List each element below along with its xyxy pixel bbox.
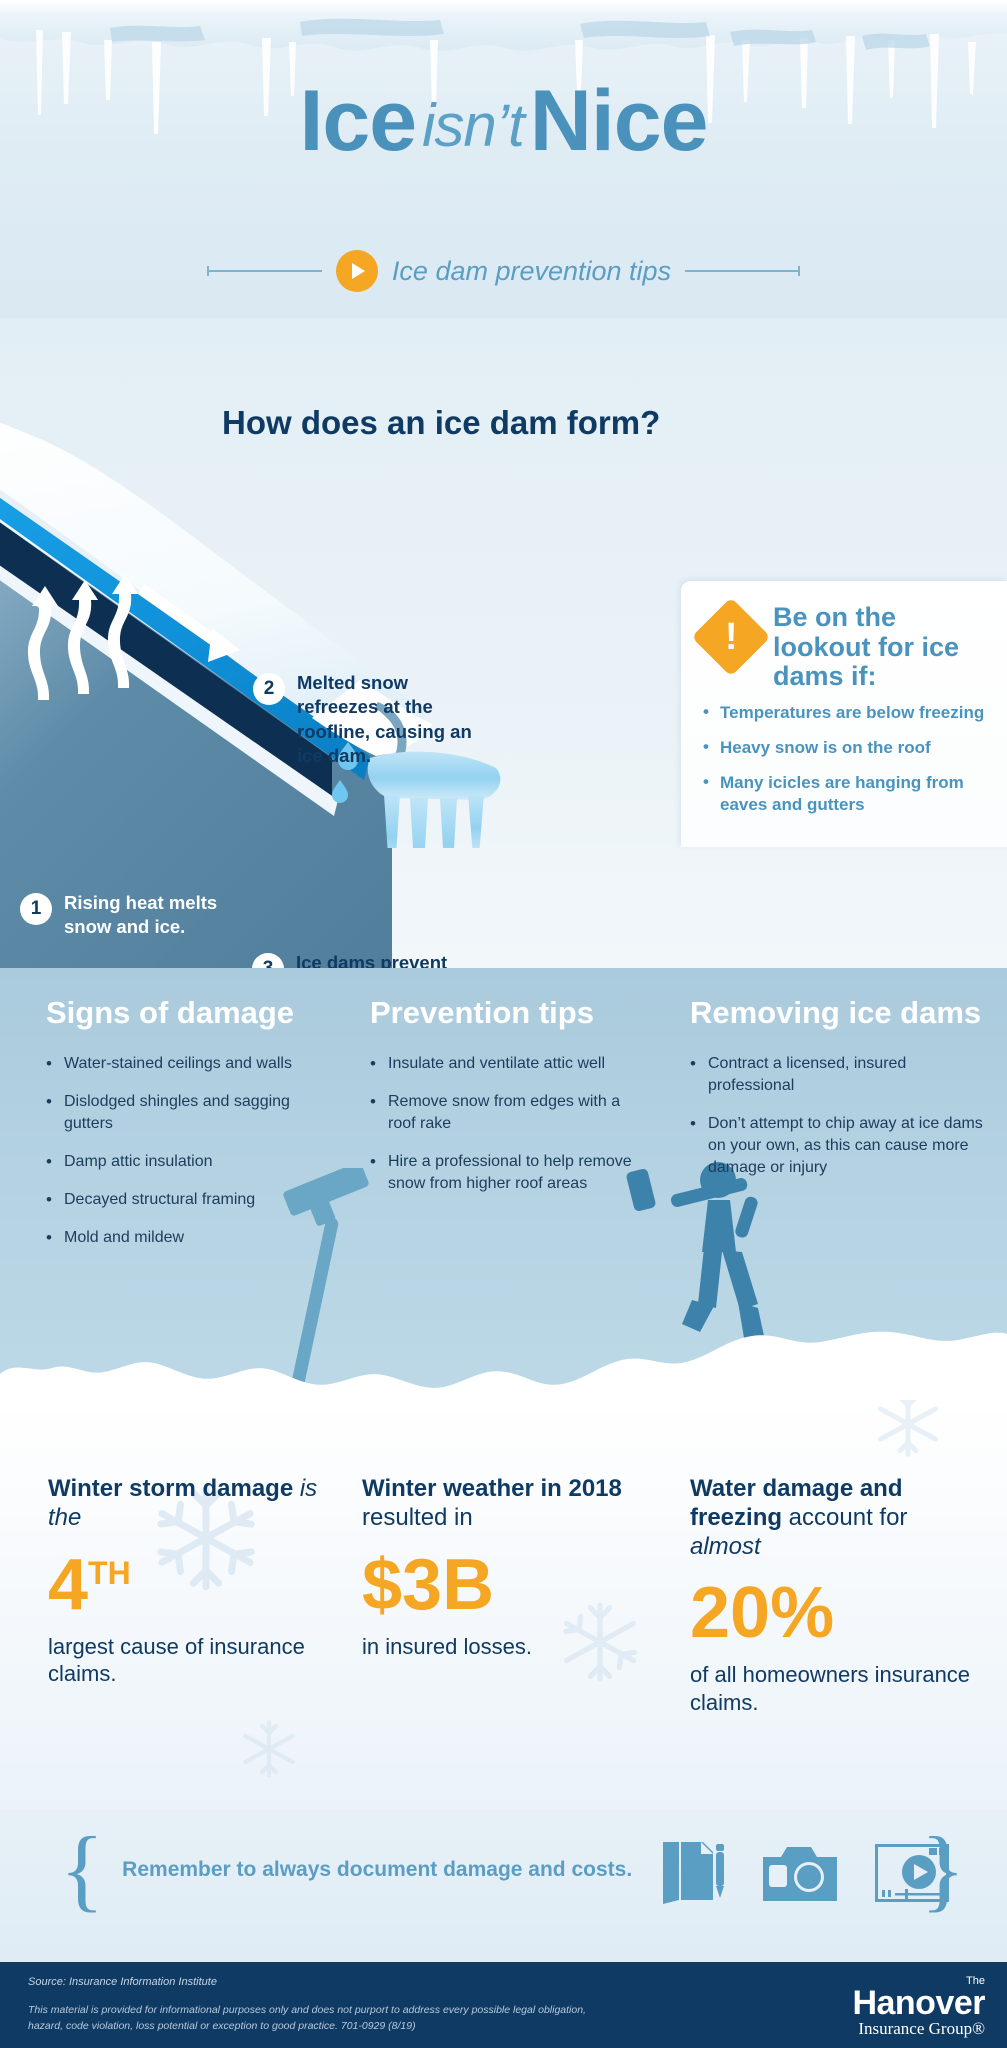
logo-subtitle: Insurance Group® (852, 2020, 985, 2039)
column-heading: Signs of damage (46, 996, 326, 1031)
close-brace-icon: } (921, 1828, 965, 1911)
title-part-1: Ice (300, 73, 417, 169)
diagram-heading: How does an ice dam form? (222, 404, 660, 442)
snowflake-icon (238, 1718, 300, 1780)
lookout-card: ! Be on the lookout for ice dams if: Tem… (681, 581, 1007, 847)
stat-number: 4 (48, 1545, 88, 1625)
stat-value: 4TH (48, 1549, 318, 1621)
remember-band: { Remember to always document damage and… (0, 1810, 1007, 1970)
column-list: Water-stained ceilings and walls Dislodg… (46, 1053, 326, 1249)
stat-heading-rest: resulted in (362, 1504, 473, 1531)
document-pen-icon (661, 1840, 725, 1906)
list-item: Decayed structural framing (46, 1189, 326, 1211)
hero-section: Iceisn’tNice Ice dam prevention tips (0, 0, 1007, 345)
column-list: Insulate and ventilate attic well Remove… (370, 1053, 640, 1195)
remember-inner: { Remember to always document damage and… (60, 1828, 632, 1911)
step-text: Ice dams prevent water from draining and… (296, 951, 482, 968)
stat-value: $3B (362, 1549, 642, 1621)
exclamation-glyph: ! (725, 618, 738, 656)
column-prevention-tips: Prevention tips Insulate and ventilate a… (370, 996, 640, 1211)
list-item: Don’t attempt to chip away at ice dams o… (690, 1113, 990, 1179)
list-item: Many icicles are hanging from eaves and … (703, 772, 987, 816)
stat-number: $3B (362, 1545, 494, 1625)
footer: Source: Insurance Information Institute … (0, 1962, 1007, 2048)
rule-right (685, 270, 800, 272)
list-item: Water-stained ceilings and walls (46, 1053, 326, 1075)
column-signs-of-damage: Signs of damage Water-stained ceilings a… (46, 996, 326, 1265)
subtitle-row: Ice dam prevention tips (0, 250, 1007, 292)
stat-heading-bold: Winter weather in 2018 (362, 1475, 622, 1502)
stat-heading-extra: almost (690, 1533, 761, 1560)
camera-icon (763, 1845, 837, 1901)
stat-ordinal-suffix: TH (88, 1555, 131, 1591)
title-part-2: Nice (530, 73, 708, 169)
stat-winter-weather-2018: Winter weather in 2018 resulted in $3B i… (362, 1475, 642, 1660)
stat-caption: in insured losses. (362, 1633, 642, 1661)
stat-winter-storm-damage: Winter storm damage is the 4TH largest c… (48, 1475, 318, 1688)
source-text: Source: Insurance Information Institute (28, 1976, 217, 1988)
page-title: Iceisn’tNice (0, 78, 1007, 164)
diagram-step-3: 3 Ice dams prevent water from draining a… (252, 951, 482, 968)
list-item: Temperatures are below freezing (703, 702, 987, 724)
hanover-logo: The Hanover Insurance Group® (852, 1976, 985, 2039)
lookout-list: Temperatures are below freezing Heavy sn… (703, 702, 987, 816)
lookout-header: ! Be on the lookout for ice dams if: (703, 603, 987, 692)
column-list: Contract a licensed, insured professiona… (690, 1053, 990, 1179)
title-isnt: isn’t (416, 92, 530, 159)
list-item: Mold and mildew (46, 1227, 326, 1249)
list-item: Insulate and ventilate attic well (370, 1053, 640, 1075)
step-number: 3 (252, 953, 284, 968)
rule-left (207, 270, 322, 272)
tips-columns-section: Signs of damage Water-stained ceilings a… (0, 968, 1007, 1428)
play-icon[interactable] (336, 250, 378, 292)
legal-disclaimer: This material is provided for informatio… (28, 2002, 588, 2035)
play-triangle (352, 263, 365, 279)
stat-heading-rest: account for (782, 1504, 907, 1531)
step-text: Melted snow refreezes at the roofline, c… (297, 671, 483, 769)
list-item: Remove snow from edges with a roof rake (370, 1091, 640, 1135)
step-text: Rising heat melts snow and ice. (64, 891, 230, 940)
step-number: 1 (20, 893, 52, 925)
logo-name: Hanover (852, 1987, 985, 2019)
list-item: Heavy snow is on the roof (703, 737, 987, 759)
open-brace-icon: { (60, 1828, 104, 1911)
infographic-page: Iceisn’tNice Ice dam prevention tips (0, 0, 1007, 2048)
snowflake-icon (872, 1400, 944, 1460)
column-heading: Removing ice dams (690, 996, 990, 1031)
step-number: 2 (253, 673, 285, 705)
list-item: Dislodged shingles and sagging gutters (46, 1091, 326, 1135)
stat-heading: Water damage and freezing account foralm… (690, 1475, 990, 1561)
stat-number: 20% (690, 1573, 834, 1653)
column-heading: Prevention tips (370, 996, 640, 1031)
diagram-step-2: 2 Melted snow refreezes at the roofline,… (253, 671, 483, 769)
stat-caption: of all homeowners insurance claims. (690, 1661, 990, 1716)
remember-text: Remember to always document damage and c… (122, 1856, 632, 1883)
diagram-step-1: 1 Rising heat melts snow and ice. (20, 891, 230, 940)
list-item: Damp attic insulation (46, 1151, 326, 1173)
stat-water-damage-freezing: Water damage and freezing account foralm… (690, 1475, 990, 1716)
stat-heading: Winter weather in 2018 resulted in (362, 1475, 642, 1533)
page-subtitle: Ice dam prevention tips (392, 256, 671, 287)
warning-diamond-icon: ! (691, 597, 770, 676)
stat-caption: largest cause of insurance claims. (48, 1633, 318, 1688)
lookout-title: Be on the lookout for ice dams if: (773, 603, 987, 692)
column-removing-ice-dams: Removing ice dams Contract a licensed, i… (690, 996, 990, 1195)
stat-heading: Winter storm damage is the (48, 1475, 318, 1533)
list-item: Contract a licensed, insured professiona… (690, 1053, 990, 1097)
document-icons-group (661, 1840, 949, 1906)
stat-heading-bold: Winter storm damage (48, 1475, 293, 1502)
list-item: Hire a professional to help remove snow … (370, 1151, 640, 1195)
stat-value: 20% (690, 1577, 990, 1649)
